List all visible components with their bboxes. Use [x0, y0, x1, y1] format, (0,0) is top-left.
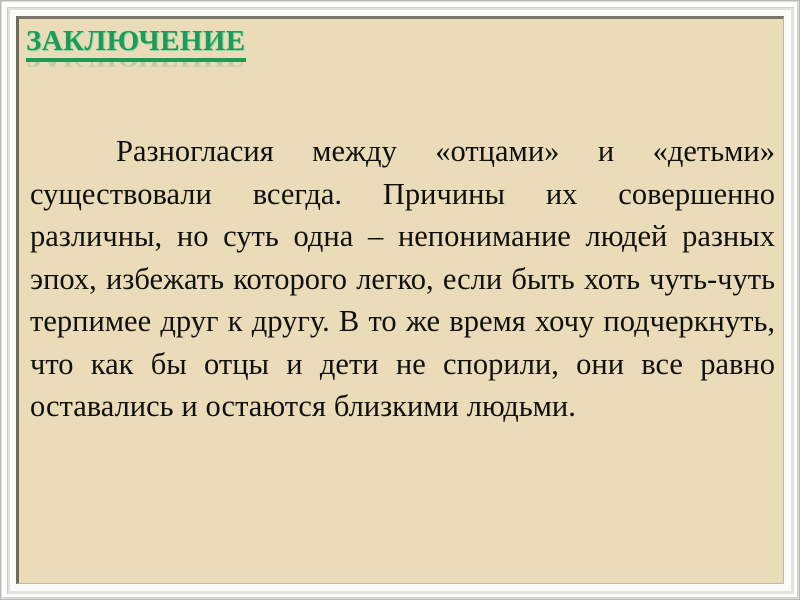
body-paragraph: Разногласия между «отцами» и «детьми» су…	[30, 130, 775, 428]
body-block: Разногласия между «отцами» и «детьми» су…	[30, 130, 775, 428]
title-block: ЗАКЛЮЧЕНИЕ ЗАКЛЮЧЕНИЕ	[26, 26, 766, 88]
page-title: ЗАКЛЮЧЕНИЕ	[26, 26, 246, 62]
slide-frame: ЗАКЛЮЧЕНИЕ ЗАКЛЮЧЕНИЕ Разногласия между …	[0, 0, 800, 600]
slide-canvas: ЗАКЛЮЧЕНИЕ ЗАКЛЮЧЕНИЕ Разногласия между …	[19, 19, 783, 583]
